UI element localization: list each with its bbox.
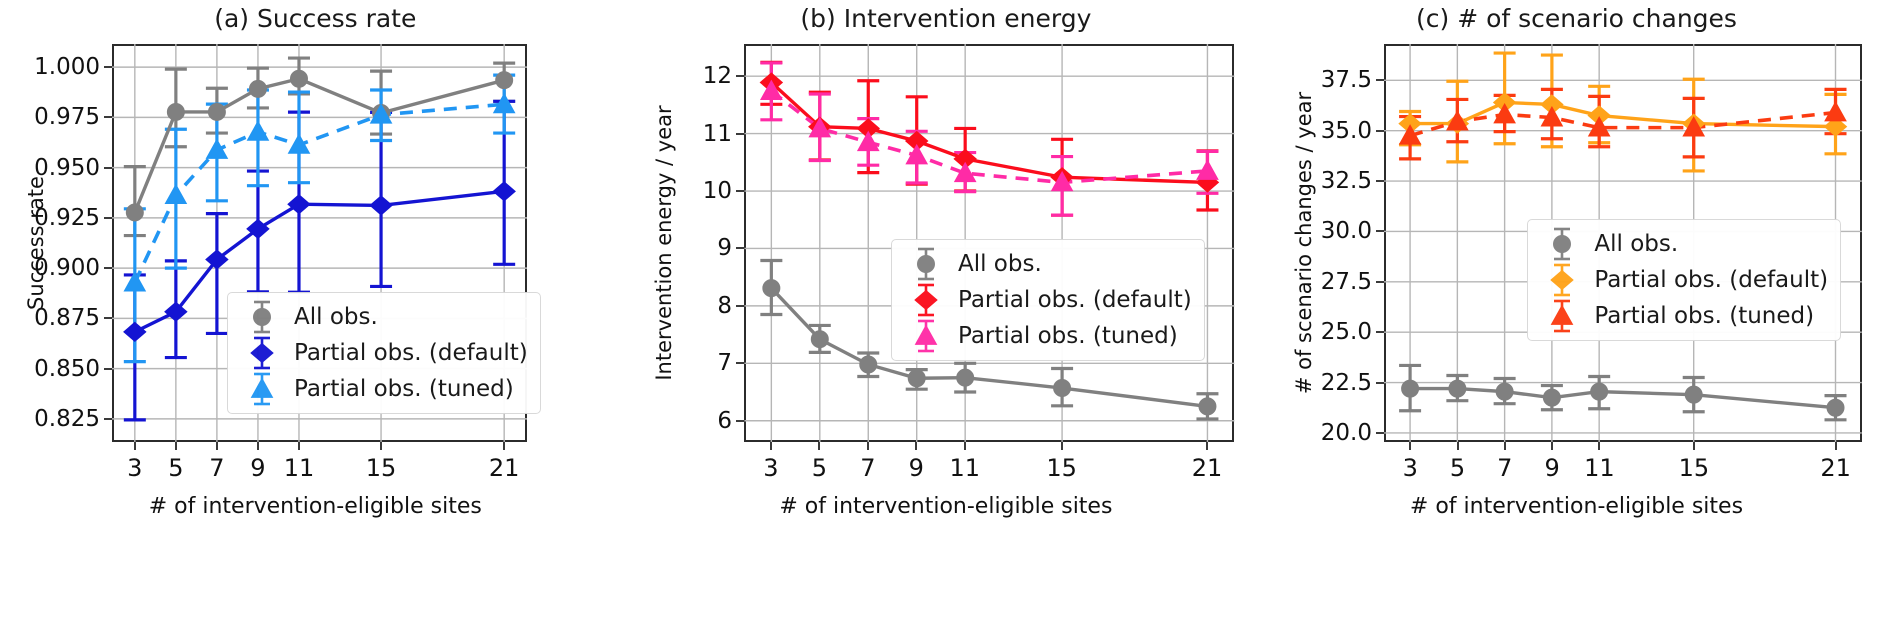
legend-item: Partial obs. (default)	[900, 282, 1192, 318]
x-axis-tick-label: 21	[1820, 454, 1851, 482]
y-axis-tick-mark	[1376, 130, 1384, 132]
y-axis-tick-label: 30.0	[1321, 218, 1372, 244]
y-axis-tick-mark	[1376, 382, 1384, 384]
y-axis-tick-mark	[104, 368, 112, 370]
x-axis-label: # of intervention-eligible sites	[631, 494, 1262, 519]
legend-label: Partial obs. (tuned)	[1588, 303, 1814, 329]
legend-item: Partial obs. (tuned)	[900, 318, 1192, 354]
y-axis-tick-mark	[104, 267, 112, 269]
legend: All obs.Partial obs. (default)Partial ob…	[891, 239, 1205, 361]
x-axis-tick-label: 9	[909, 454, 924, 482]
y-axis-tick-mark	[736, 305, 744, 307]
legend-item: Partial obs. (tuned)	[236, 371, 528, 407]
error-bars-triangle	[760, 63, 1218, 215]
y-axis-tick-label: 12	[703, 63, 732, 89]
legend-label: All obs.	[952, 251, 1042, 277]
x-axis-tick-label: 11	[284, 454, 315, 482]
x-axis-tick-label: 9	[1544, 454, 1559, 482]
y-axis-tick-mark	[104, 418, 112, 420]
x-axis-tick-label: 21	[489, 454, 520, 482]
x-axis-tick-label: 7	[860, 454, 875, 482]
y-axis-tick-mark	[736, 420, 744, 422]
legend-item: All obs.	[236, 299, 528, 335]
x-axis-tick-label: 5	[1450, 454, 1465, 482]
y-axis-tick-mark	[736, 190, 744, 192]
panel-c-scenario-changes: (c) # of scenario changes 20.022.525.027…	[1261, 0, 1892, 619]
x-axis-tick-label: 5	[812, 454, 827, 482]
series-line-triangle	[771, 91, 1207, 182]
y-axis-label: Intervention energy / year	[652, 105, 676, 380]
x-axis-tick-mark	[1693, 442, 1695, 450]
legend-item: Partial obs. (default)	[236, 335, 528, 371]
legend-label: Partial obs. (tuned)	[952, 323, 1178, 349]
error-bars-diamond	[760, 62, 1218, 215]
y-axis-tick-label: 1.000	[34, 54, 100, 80]
y-axis-tick-mark	[1376, 230, 1384, 232]
panel-a-success-rate: (a) Success rate 0.8250.8500.8750.9000.9…	[0, 0, 631, 619]
x-axis-tick-mark	[257, 442, 259, 450]
x-axis-tick-label: 7	[1497, 454, 1512, 482]
y-axis-tick-label: 10	[703, 178, 732, 204]
y-axis-tick-label: 0.825	[34, 406, 100, 432]
figure-three-panel-comparison: (a) Success rate 0.8250.8500.8750.9000.9…	[0, 0, 1892, 619]
legend-label: Partial obs. (default)	[288, 340, 528, 366]
x-axis-tick-mark	[134, 442, 136, 450]
y-axis-tick-mark	[736, 75, 744, 77]
y-axis-label: Success rate	[24, 176, 48, 310]
y-axis-tick-label: 27.5	[1321, 269, 1372, 295]
y-axis-tick-label: 20.0	[1321, 420, 1372, 446]
legend-marker-diamond-icon	[236, 335, 288, 371]
y-axis-tick-label: 9	[717, 235, 732, 261]
x-axis-tick-mark	[1598, 442, 1600, 450]
x-axis-tick-mark	[818, 442, 820, 450]
x-axis-tick-mark	[1551, 442, 1553, 450]
legend-item: All obs.	[1536, 226, 1828, 262]
panel-c-plot: 20.022.525.027.530.032.535.037.535791115…	[1261, 0, 1892, 619]
legend-label: Partial obs. (default)	[1588, 267, 1828, 293]
series-line-circle	[1410, 389, 1835, 408]
legend-marker-diamond-icon	[900, 282, 952, 318]
x-axis-tick-label: 7	[209, 454, 224, 482]
x-axis-tick-label: 9	[250, 454, 265, 482]
legend-marker-circle-icon	[236, 299, 288, 335]
series-line-triangle	[135, 104, 504, 282]
y-axis-tick-label: 0.850	[34, 356, 100, 382]
y-axis-tick-mark	[1376, 281, 1384, 283]
legend-label: Partial obs. (tuned)	[288, 376, 514, 402]
y-axis-tick-label: 8	[717, 293, 732, 319]
legend: All obs.Partial obs. (default)Partial ob…	[227, 292, 541, 414]
series-markers-circle	[1402, 380, 1844, 416]
y-axis-tick-mark	[1376, 180, 1384, 182]
x-axis-tick-label: 5	[168, 454, 183, 482]
x-axis-tick-mark	[915, 442, 917, 450]
x-axis-tick-label: 3	[127, 454, 142, 482]
x-axis-tick-mark	[1835, 442, 1837, 450]
x-axis-tick-label: 15	[1679, 454, 1710, 482]
x-axis-tick-mark	[216, 442, 218, 450]
y-axis-tick-mark	[1376, 432, 1384, 434]
x-axis-tick-mark	[1504, 442, 1506, 450]
y-axis-tick-mark	[104, 116, 112, 118]
legend-label: Partial obs. (default)	[952, 287, 1192, 313]
x-axis-tick-mark	[1457, 442, 1459, 450]
y-axis-tick-label: 7	[717, 350, 732, 376]
x-axis-tick-label: 3	[1403, 454, 1418, 482]
y-axis-tick-label: 25.0	[1321, 319, 1372, 345]
x-axis-tick-mark	[503, 442, 505, 450]
y-axis-tick-label: 37.5	[1321, 67, 1372, 93]
legend-label: All obs.	[288, 304, 378, 330]
legend-item: Partial obs. (default)	[1536, 262, 1828, 298]
x-axis-tick-mark	[380, 442, 382, 450]
x-axis-tick-label: 21	[1192, 454, 1223, 482]
legend-marker-triangle-icon	[1536, 298, 1588, 334]
y-axis-tick-mark	[1376, 331, 1384, 333]
x-axis-tick-label: 11	[1584, 454, 1615, 482]
panel-a-plot: 0.8250.8500.8750.9000.9250.9500.9751.000…	[0, 0, 631, 619]
x-axis-tick-label: 11	[949, 454, 980, 482]
x-axis-tick-label: 15	[1046, 454, 1077, 482]
legend-marker-circle-icon	[1536, 226, 1588, 262]
legend-label: All obs.	[1588, 231, 1678, 257]
y-axis-tick-mark	[736, 362, 744, 364]
panel-b-intervention-energy: (b) Intervention energy 6789101112357911…	[631, 0, 1262, 619]
legend-item: Partial obs. (tuned)	[1536, 298, 1828, 334]
legend: All obs.Partial obs. (default)Partial ob…	[1527, 219, 1841, 341]
legend-item: All obs.	[900, 246, 1192, 282]
legend-marker-circle-icon	[900, 246, 952, 282]
y-axis-tick-mark	[736, 133, 744, 135]
x-axis-tick-mark	[770, 442, 772, 450]
y-axis-tick-label: 22.5	[1321, 370, 1372, 396]
x-axis-tick-mark	[867, 442, 869, 450]
y-axis-tick-label: 0.975	[34, 104, 100, 130]
x-axis-tick-mark	[964, 442, 966, 450]
legend-marker-diamond-icon	[1536, 262, 1588, 298]
x-axis-tick-label: 3	[763, 454, 778, 482]
x-axis-tick-mark	[175, 442, 177, 450]
panel-b-plot: 67891011123579111521# of intervention-el…	[631, 0, 1262, 619]
legend-marker-triangle-icon	[900, 318, 952, 354]
y-axis-tick-mark	[1376, 79, 1384, 81]
y-axis-tick-mark	[736, 247, 744, 249]
y-axis-tick-mark	[104, 217, 112, 219]
series-line-diamond	[1410, 102, 1835, 126]
x-axis-tick-mark	[1409, 442, 1411, 450]
x-axis-tick-mark	[1206, 442, 1208, 450]
series-line-circle	[135, 79, 504, 213]
y-axis-tick-label: 32.5	[1321, 168, 1372, 194]
y-axis-tick-mark	[104, 167, 112, 169]
error-bars-circle	[124, 58, 515, 235]
legend-marker-triangle-icon	[236, 371, 288, 407]
error-bars-diamond	[1399, 53, 1846, 171]
x-axis-tick-mark	[1061, 442, 1063, 450]
y-axis-label: # of scenario changes / year	[1292, 92, 1316, 394]
y-axis-tick-label: 6	[717, 408, 732, 434]
y-axis-tick-mark	[104, 317, 112, 319]
x-axis-label: # of intervention-eligible sites	[0, 494, 631, 519]
y-axis-tick-label: 35.0	[1321, 118, 1372, 144]
y-axis-tick-mark	[104, 66, 112, 68]
x-axis-tick-label: 15	[366, 454, 397, 482]
x-axis-label: # of intervention-eligible sites	[1261, 494, 1892, 519]
y-axis-tick-label: 11	[703, 121, 732, 147]
x-axis-tick-mark	[298, 442, 300, 450]
